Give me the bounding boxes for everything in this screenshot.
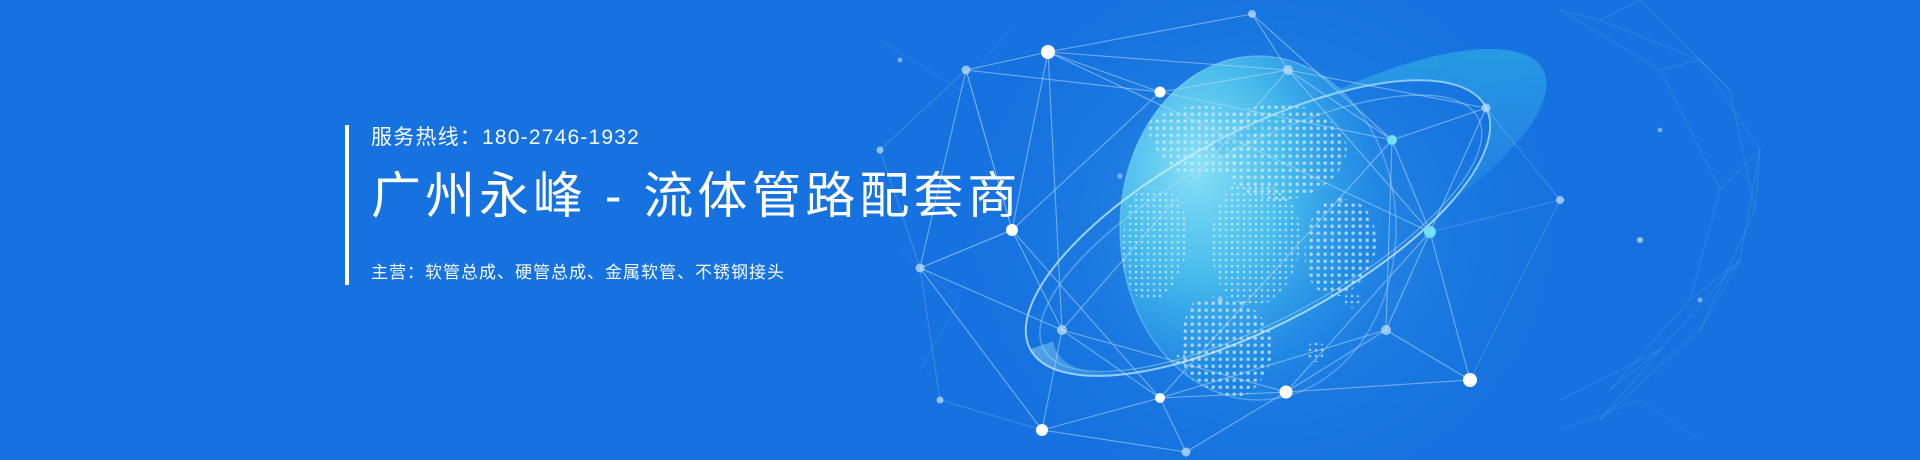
hero-banner: 服务热线：180-2746-1932 广州永峰 - 流体管路配套商 主营：软管总… [0, 0, 1920, 460]
service-hotline: 服务热线：180-2746-1932 [371, 127, 1021, 148]
banner-text-block: 服务热线：180-2746-1932 广州永峰 - 流体管路配套商 主营：软管总… [345, 125, 1021, 285]
product-list-subtitle: 主营：软管总成、硬管总成、金属软管、不锈钢接头 [371, 264, 1021, 281]
page-title: 广州永峰 - 流体管路配套商 [371, 171, 1021, 221]
accent-bar [345, 125, 349, 285]
